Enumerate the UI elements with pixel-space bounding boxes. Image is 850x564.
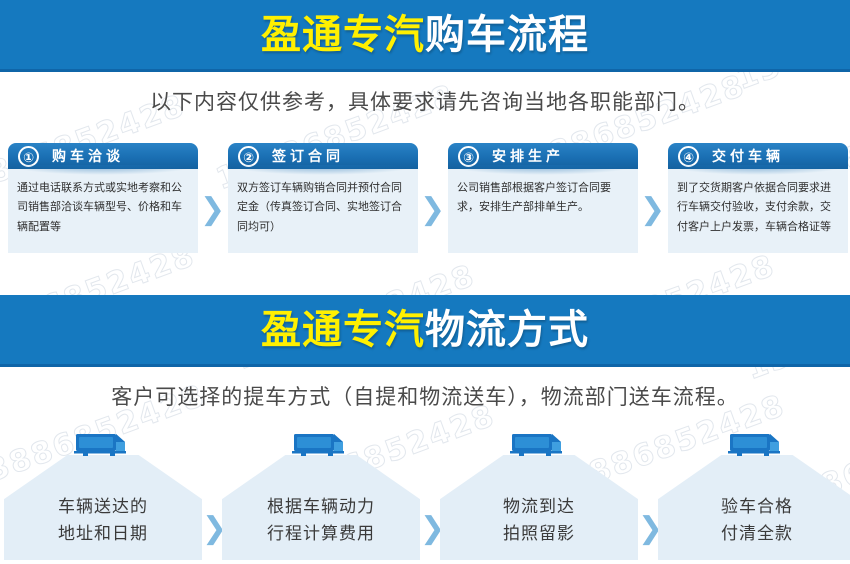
banner-brand: 盈通专汽 [261, 12, 425, 58]
section-banner-logistics: 盈通专汽物流方式 [0, 295, 850, 367]
logistics-subtitle: 客户可选择的提车方式（自提和物流送车），物流部门送车流程。 [0, 381, 850, 411]
stage-pentagon: 车辆送达的 地址和日期 [4, 455, 202, 560]
chevron-right-icon: ❯ [420, 195, 445, 225]
step-card-3[interactable]: ③ 安排生产 公司销售部根据客户签订合同要求，安排生产部排单生产。 [448, 143, 638, 253]
step-number-badge: ① [18, 146, 39, 167]
step-body-text: 公司销售部根据客户签订合同要求，安排生产部排单生产。 [448, 169, 638, 253]
banner-topic: 购车流程 [425, 12, 589, 58]
stage-pentagon: 物流到达 拍照留影 [440, 455, 638, 560]
chevron-right-icon: ❯ [200, 195, 225, 225]
step-title: 安排生产 [492, 146, 564, 166]
stage-line-2: 付清全款 [721, 521, 793, 547]
banner-brand: 盈通专汽 [261, 307, 425, 353]
purchase-subtitle: 以下内容仅供参考，具体要求请先咨询当地各职能部门。 [0, 86, 850, 116]
logistics-stage-1[interactable]: 车辆送达的 地址和日期 [4, 432, 202, 562]
stage-pentagon: 验车合格 付清全款 [658, 455, 850, 560]
step-card-header: ③ 安排生产 [448, 143, 638, 169]
step-number-badge: ② [238, 146, 259, 167]
step-title: 签订合同 [272, 146, 344, 166]
logistics-stage-4[interactable]: 验车合格 付清全款 [658, 432, 850, 562]
step-card-header: ② 签订合同 [228, 143, 418, 169]
logistics-stage-2[interactable]: 根据车辆动力 行程计算费用 [222, 432, 420, 562]
step-body-text: 到了交货期客户依据合同要求进行车辆交付验收，支付余款，交付客户上户发票，车辆合格… [668, 169, 848, 253]
step-body-text: 通过电话联系方式或实地考察和公司销售部洽谈车辆型号、价格和车辆配置等 [8, 169, 198, 253]
banner-title: 盈通专汽购车流程 [261, 15, 589, 55]
banner-topic: 物流方式 [425, 307, 589, 353]
chevron-right-icon: ❯ [640, 195, 665, 225]
step-title: 交付车辆 [712, 146, 784, 166]
step-number-badge: ③ [458, 146, 479, 167]
section-banner-purchase: 盈通专汽购车流程 [0, 0, 850, 72]
step-body-text: 双方签订车辆购销合同并预付合同定金（传真签订合同、实地签订合同均可） [228, 169, 418, 253]
truck-icon [72, 432, 134, 460]
stage-line-1: 根据车辆动力 [267, 494, 375, 520]
stage-line-2: 拍照留影 [503, 521, 575, 547]
step-card-4[interactable]: ④ 交付车辆 到了交货期客户依据合同要求进行车辆交付验收，支付余款，交付客户上户… [668, 143, 848, 253]
truck-icon [726, 432, 788, 460]
stage-line-2: 行程计算费用 [267, 521, 375, 547]
logistics-stages-row: 车辆送达的 地址和日期 ❯ 根据车辆动力 行程计算费用 ❯ [0, 432, 850, 564]
stage-line-2: 地址和日期 [58, 521, 148, 547]
step-card-header: ④ 交付车辆 [668, 143, 848, 169]
truck-icon [290, 432, 352, 460]
purchase-steps-row: ① 购车洽谈 通过电话联系方式或实地考察和公司销售部洽谈车辆型号、价格和车辆配置… [0, 143, 850, 255]
step-number-badge: ④ [678, 146, 699, 167]
logistics-stage-3[interactable]: 物流到达 拍照留影 [440, 432, 638, 562]
step-card-2[interactable]: ② 签订合同 双方签订车辆购销合同并预付合同定金（传真签订合同、实地签订合同均可… [228, 143, 418, 253]
step-card-header: ① 购车洽谈 [8, 143, 198, 169]
step-title: 购车洽谈 [52, 146, 124, 166]
banner-title: 盈通专汽物流方式 [261, 310, 589, 350]
stage-line-1: 物流到达 [503, 494, 575, 520]
stage-line-1: 验车合格 [721, 494, 793, 520]
step-card-1[interactable]: ① 购车洽谈 通过电话联系方式或实地考察和公司销售部洽谈车辆型号、价格和车辆配置… [8, 143, 198, 253]
stage-pentagon: 根据车辆动力 行程计算费用 [222, 455, 420, 560]
stage-line-1: 车辆送达的 [58, 494, 148, 520]
promo-page: 13886852428 13886852428 13886852428 1388… [0, 0, 850, 564]
truck-icon [508, 432, 570, 460]
